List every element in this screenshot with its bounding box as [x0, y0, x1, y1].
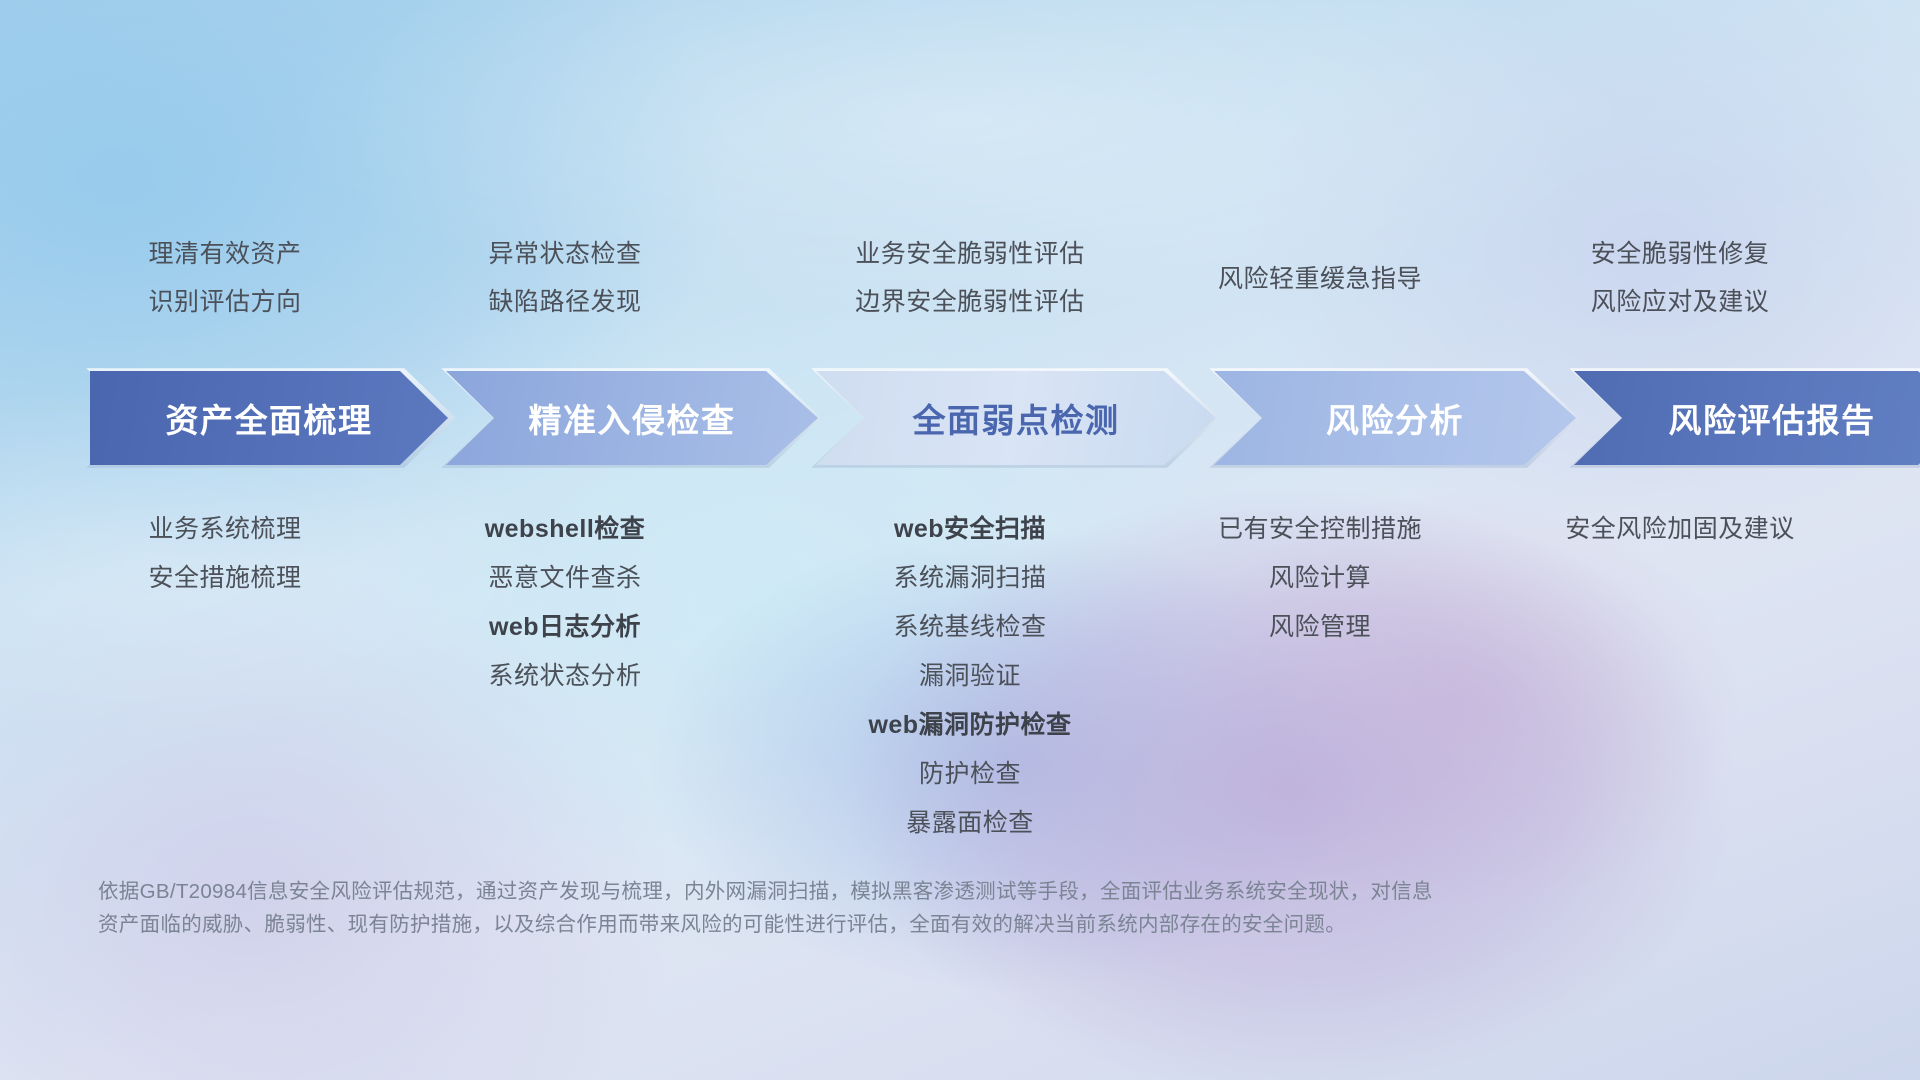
bottom-item: 已有安全控制措施	[1120, 505, 1520, 554]
stage-bottom-items-intrusion-check: webshell检查 恶意文件查杀 web日志分析 系统状态分析	[400, 505, 730, 701]
stage-top-items-risk-report: 安全脆弱性修复 风险应对及建议	[1490, 230, 1870, 326]
bottom-item: web漏洞防护检查	[760, 701, 1180, 750]
stage-top-items-intrusion-check: 异常状态检查 缺陷路径发现	[400, 230, 730, 326]
stage-bottom-items-risk-report: 安全风险加固及建议	[1490, 505, 1870, 554]
process-diagram: 理清有效资产 识别评估方向 异常状态检查 缺陷路径发现 业务安全脆弱性评估 边界…	[0, 0, 1920, 1080]
footer-description: 依据GB/T20984信息安全风险评估规范，通过资产发现与梳理，内外网漏洞扫描，…	[98, 875, 1658, 941]
top-item: 安全脆弱性修复	[1490, 230, 1870, 278]
bottom-item: 安全措施梳理	[60, 554, 390, 603]
bottom-item: 防护检查	[760, 750, 1180, 799]
top-item: 风险轻重缓急指导	[1120, 255, 1520, 303]
stage-chevron-weakness-detection[interactable]: 全面弱点检测	[816, 371, 1216, 465]
bottom-item: 系统漏洞扫描	[760, 554, 1180, 603]
stage-bottom-items-risk-analysis: 已有安全控制措施 风险计算 风险管理	[1120, 505, 1520, 652]
footer-line: 资产面临的威胁、脆弱性、现有防护措施，以及综合作用而带来风险的可能性进行评估，全…	[98, 908, 1658, 941]
bottom-item: 系统基线检查	[760, 603, 1180, 652]
top-item: 异常状态检查	[400, 230, 730, 278]
stage-label: 资产全面梳理	[166, 394, 373, 442]
bottom-item: 漏洞验证	[760, 652, 1180, 701]
stage-bottom-items-asset-inventory: 业务系统梳理 安全措施梳理	[60, 505, 390, 603]
process-chevron-band: 资产全面梳理 精准入侵检查 全面弱点检测 风险分析 风险评估报告	[0, 368, 1920, 468]
footer-line: 依据GB/T20984信息安全风险评估规范，通过资产发现与梳理，内外网漏洞扫描，…	[98, 875, 1658, 908]
top-item: 理清有效资产	[60, 230, 390, 278]
bottom-item: webshell检查	[400, 505, 730, 554]
bottom-item: web日志分析	[400, 603, 730, 652]
stage-chevron-intrusion-check[interactable]: 精准入侵检查	[446, 371, 818, 465]
stage-top-items-asset-inventory: 理清有效资产 识别评估方向	[60, 230, 390, 326]
bottom-item: 系统状态分析	[400, 652, 730, 701]
stage-label: 全面弱点检测	[913, 394, 1120, 442]
bottom-item: 安全风险加固及建议	[1490, 505, 1870, 554]
top-item: 风险应对及建议	[1490, 278, 1870, 326]
bottom-item: web安全扫描	[760, 505, 1180, 554]
bottom-item: 暴露面检查	[760, 799, 1180, 848]
bottom-item: 风险计算	[1120, 554, 1520, 603]
top-item: 缺陷路径发现	[400, 278, 730, 326]
bottom-item: 风险管理	[1120, 603, 1520, 652]
stage-chevron-risk-analysis[interactable]: 风险分析	[1214, 371, 1576, 465]
top-item: 识别评估方向	[60, 278, 390, 326]
stage-label: 风险分析	[1326, 394, 1464, 442]
bottom-item: 业务系统梳理	[60, 505, 390, 554]
top-item: 业务安全脆弱性评估	[760, 230, 1180, 278]
stage-chevron-risk-report[interactable]: 风险评估报告	[1574, 371, 1920, 465]
stage-top-items-weakness-detection: 业务安全脆弱性评估 边界安全脆弱性评估	[760, 230, 1180, 326]
stage-label: 风险评估报告	[1669, 394, 1876, 442]
stage-chevron-asset-inventory[interactable]: 资产全面梳理	[90, 371, 448, 465]
stage-bottom-items-weakness-detection: web安全扫描 系统漏洞扫描 系统基线检查 漏洞验证 web漏洞防护检查 防护检…	[760, 505, 1180, 848]
bottom-item: 恶意文件查杀	[400, 554, 730, 603]
top-item: 边界安全脆弱性评估	[760, 278, 1180, 326]
stage-top-items-risk-analysis: 风险轻重缓急指导	[1120, 255, 1520, 303]
stage-label: 精准入侵检查	[529, 394, 736, 442]
